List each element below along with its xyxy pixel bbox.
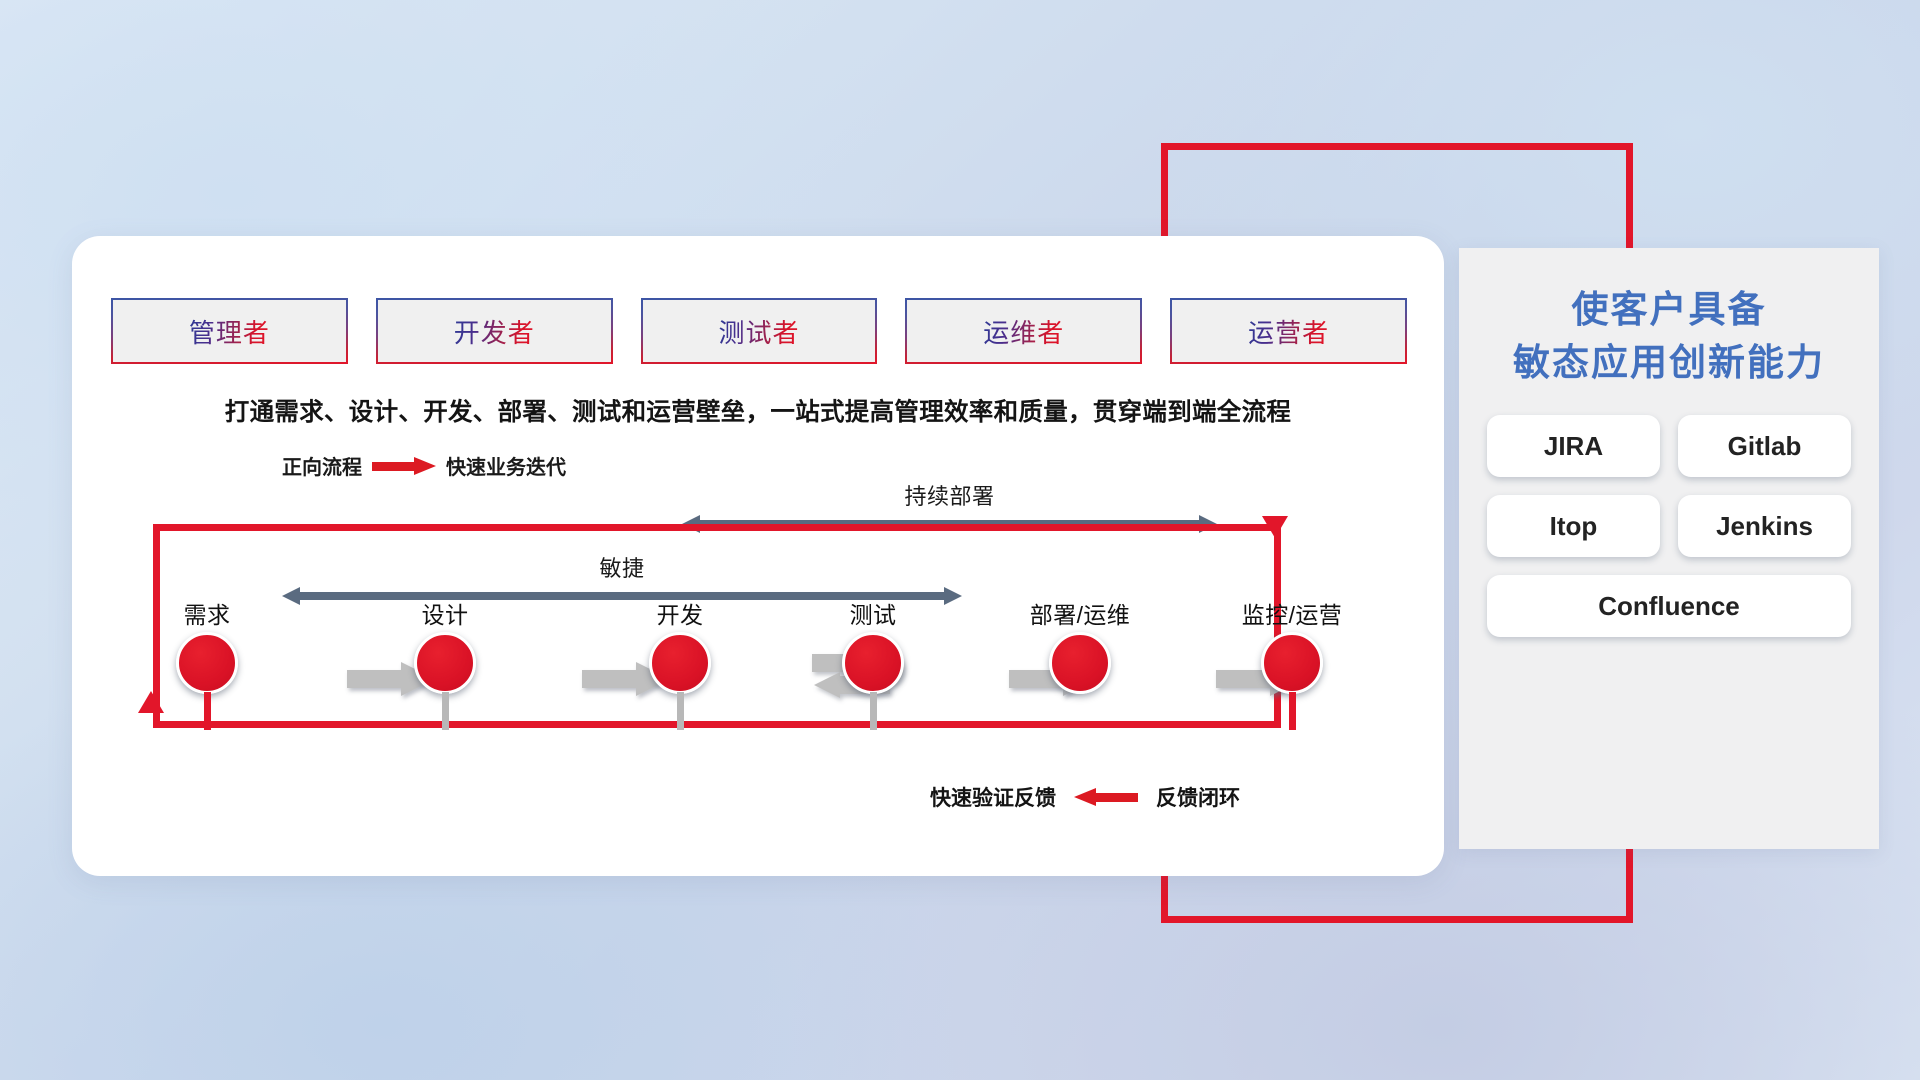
feedback-to-label: 反馈闭环: [1156, 782, 1240, 812]
pipeline-node-testing[interactable]: 测试: [788, 596, 958, 694]
role-label: 管理者: [189, 313, 270, 350]
role-box-ops-engineer[interactable]: 运维者: [905, 298, 1142, 364]
tool-chip-itop[interactable]: Itop: [1487, 495, 1660, 557]
card-description: 打通需求、设计、开发、部署、测试和运营壁垒，一站式提高管理效率和质量，贯穿端到端…: [72, 393, 1444, 428]
role-box-manager[interactable]: 管理者: [111, 298, 348, 364]
node-dot: [176, 632, 238, 694]
node-label: 部署/运维: [995, 596, 1165, 630]
node-dot: [649, 632, 711, 694]
node-stem: [1289, 692, 1296, 730]
role-box-row: 管理者 开发者 测试者 运维者 运营者: [111, 298, 1407, 364]
node-stem: [204, 692, 211, 730]
forward-flow-legend: 正向流程 快速业务迭代: [282, 451, 566, 480]
role-label: 测试者: [718, 313, 799, 350]
node-label: 测试: [788, 596, 958, 630]
panel-title-line2: 敏态应用创新能力: [1487, 337, 1851, 390]
role-label: 运维者: [983, 313, 1064, 350]
forward-flow-from-label: 正向流程: [282, 451, 362, 480]
node-dot: [842, 632, 904, 694]
node-dot: [1261, 632, 1323, 694]
node-label: 开发: [595, 596, 765, 630]
role-box-operations[interactable]: 运营者: [1170, 298, 1407, 364]
node-stem: [677, 692, 684, 730]
node-dot: [1049, 632, 1111, 694]
role-label: 运营者: [1248, 313, 1329, 350]
node-label: 监控/运营: [1207, 596, 1377, 630]
tool-chip-gitlab[interactable]: Gitlab: [1678, 415, 1851, 477]
pipeline-node-requirement[interactable]: 需求: [122, 596, 292, 694]
node-stem: [870, 692, 877, 730]
tool-chip-grid: JIRA Gitlab Itop Jenkins Confluence: [1487, 415, 1851, 637]
tool-chip-confluence[interactable]: Confluence: [1487, 575, 1851, 637]
tool-chip-jira[interactable]: JIRA: [1487, 415, 1660, 477]
devops-pipeline: 需求 设计: [112, 596, 1412, 756]
feedback-loop-legend: 快速验证反馈 反馈闭环: [930, 782, 1240, 812]
node-dot: [414, 632, 476, 694]
node-label: 设计: [360, 596, 530, 630]
panel-title-line1: 使客户具备: [1487, 284, 1851, 337]
role-box-developer[interactable]: 开发者: [376, 298, 613, 364]
loop-arrow-down-icon: [1262, 516, 1288, 538]
forward-flow-to-label: 快速业务迭代: [446, 451, 566, 480]
devops-overview-card: 管理者 开发者 测试者 运维者 运营者 打通需求、设计、开发、部署、测试和运营壁…: [72, 236, 1444, 876]
pipeline-node-design[interactable]: 设计: [360, 596, 530, 694]
pipeline-node-deploy-ops[interactable]: 部署/运维: [995, 596, 1165, 694]
tool-chip-jenkins[interactable]: Jenkins: [1678, 495, 1851, 557]
role-box-tester[interactable]: 测试者: [641, 298, 878, 364]
pipeline-node-development[interactable]: 开发: [595, 596, 765, 694]
feedback-from-label: 快速验证反馈: [930, 782, 1056, 812]
node-stem: [442, 692, 449, 730]
arrow-left-icon: [1074, 788, 1138, 806]
pipeline-node-monitor-operate[interactable]: 监控/运营: [1207, 596, 1377, 694]
node-label: 需求: [122, 596, 292, 630]
span-label: 持续部署: [682, 479, 1217, 511]
role-label: 开发者: [454, 313, 535, 350]
value-proposition-panel: 使客户具备 敏态应用创新能力 JIRA Gitlab Itop Jenkins …: [1459, 248, 1879, 849]
arrow-right-icon: [372, 457, 436, 475]
